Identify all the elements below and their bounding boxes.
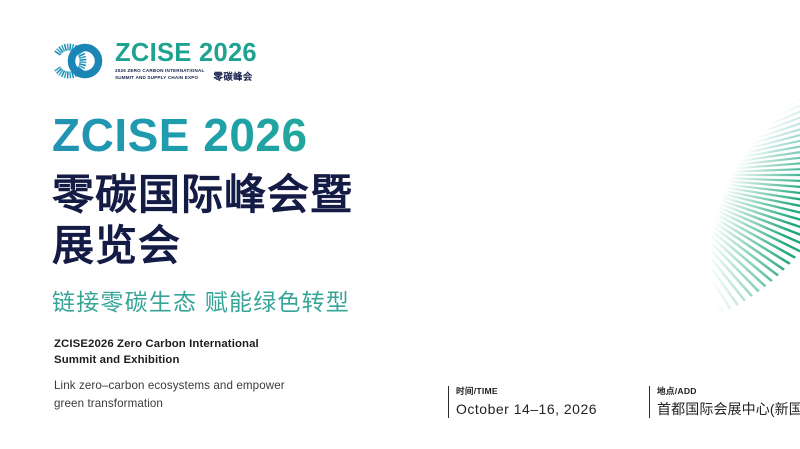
address-label: 地点/ADD — [657, 386, 800, 397]
address-value: 首都国际会展中心(新国展二期) — [657, 400, 800, 418]
description-bold: ZCISE2026 Zero Carbon International Summ… — [54, 336, 384, 368]
description-light: Link zero–carbon ecosystems and empower … — [54, 377, 384, 413]
tagline: 链接零碳生态 赋能绿色转型 — [52, 289, 472, 317]
zcise-logo-mark — [48, 33, 106, 89]
poster-canvas: ZCISE 2026 2026 ZERO CARBON INTERNATIONA… — [0, 0, 800, 449]
info-item-time: 时间/TIME October 14–16, 2026 — [448, 386, 597, 418]
description-light-line1: Link zero–carbon ecosystems and empower — [54, 379, 285, 392]
info-item-address: 地点/ADD 首都国际会展中心(新国展二期) — [649, 386, 800, 418]
description-bold-line1: ZCISE2026 Zero Carbon International — [54, 338, 259, 350]
description-block: ZCISE2026 Zero Carbon International Summ… — [54, 336, 384, 413]
time-label: 时间/TIME — [456, 386, 597, 397]
page-title-chinese-line2: 展览会 — [52, 220, 472, 272]
info-bar: 时间/TIME October 14–16, 2026 地点/ADD 首都国际会… — [448, 386, 800, 418]
logo-wordmark: ZCISE 2026 — [115, 41, 257, 67]
time-value: October 14–16, 2026 — [456, 400, 597, 418]
headline-block: ZCISE 2026 零碳国际峰会暨 展览会 链接零碳生态 赋能绿色转型 — [52, 112, 472, 317]
logo-subtitle-english-line1: 2026 ZERO CARBON INTERNATIONAL — [115, 68, 205, 74]
logo-lockup[interactable]: ZCISE 2026 2026 ZERO CARBON INTERNATIONA… — [48, 33, 257, 89]
logo-subtitle-row: 2026 ZERO CARBON INTERNATIONAL SUMMIT AN… — [115, 68, 257, 81]
logo-text-column: ZCISE 2026 2026 ZERO CARBON INTERNATIONA… — [115, 41, 257, 81]
page-title-english: ZCISE 2026 — [52, 112, 472, 160]
page-title-chinese-line1: 零碳国际峰会暨 — [52, 169, 472, 221]
page-title-chinese: 零碳国际峰会暨 展览会 — [52, 169, 472, 272]
logo-subtitle-chinese: 零碳峰会 — [214, 72, 253, 81]
logo-subtitle-english: 2026 ZERO CARBON INTERNATIONAL SUMMIT AN… — [115, 68, 205, 81]
description-bold-line2: Summit and Exhibition — [54, 354, 180, 366]
description-light-line2: green transformation — [54, 397, 163, 410]
logo-subtitle-english-line2: SUMMIT AND SUPPLY CHAIN EXPO — [115, 75, 205, 81]
radial-ring-burst-graphic — [430, 0, 800, 390]
